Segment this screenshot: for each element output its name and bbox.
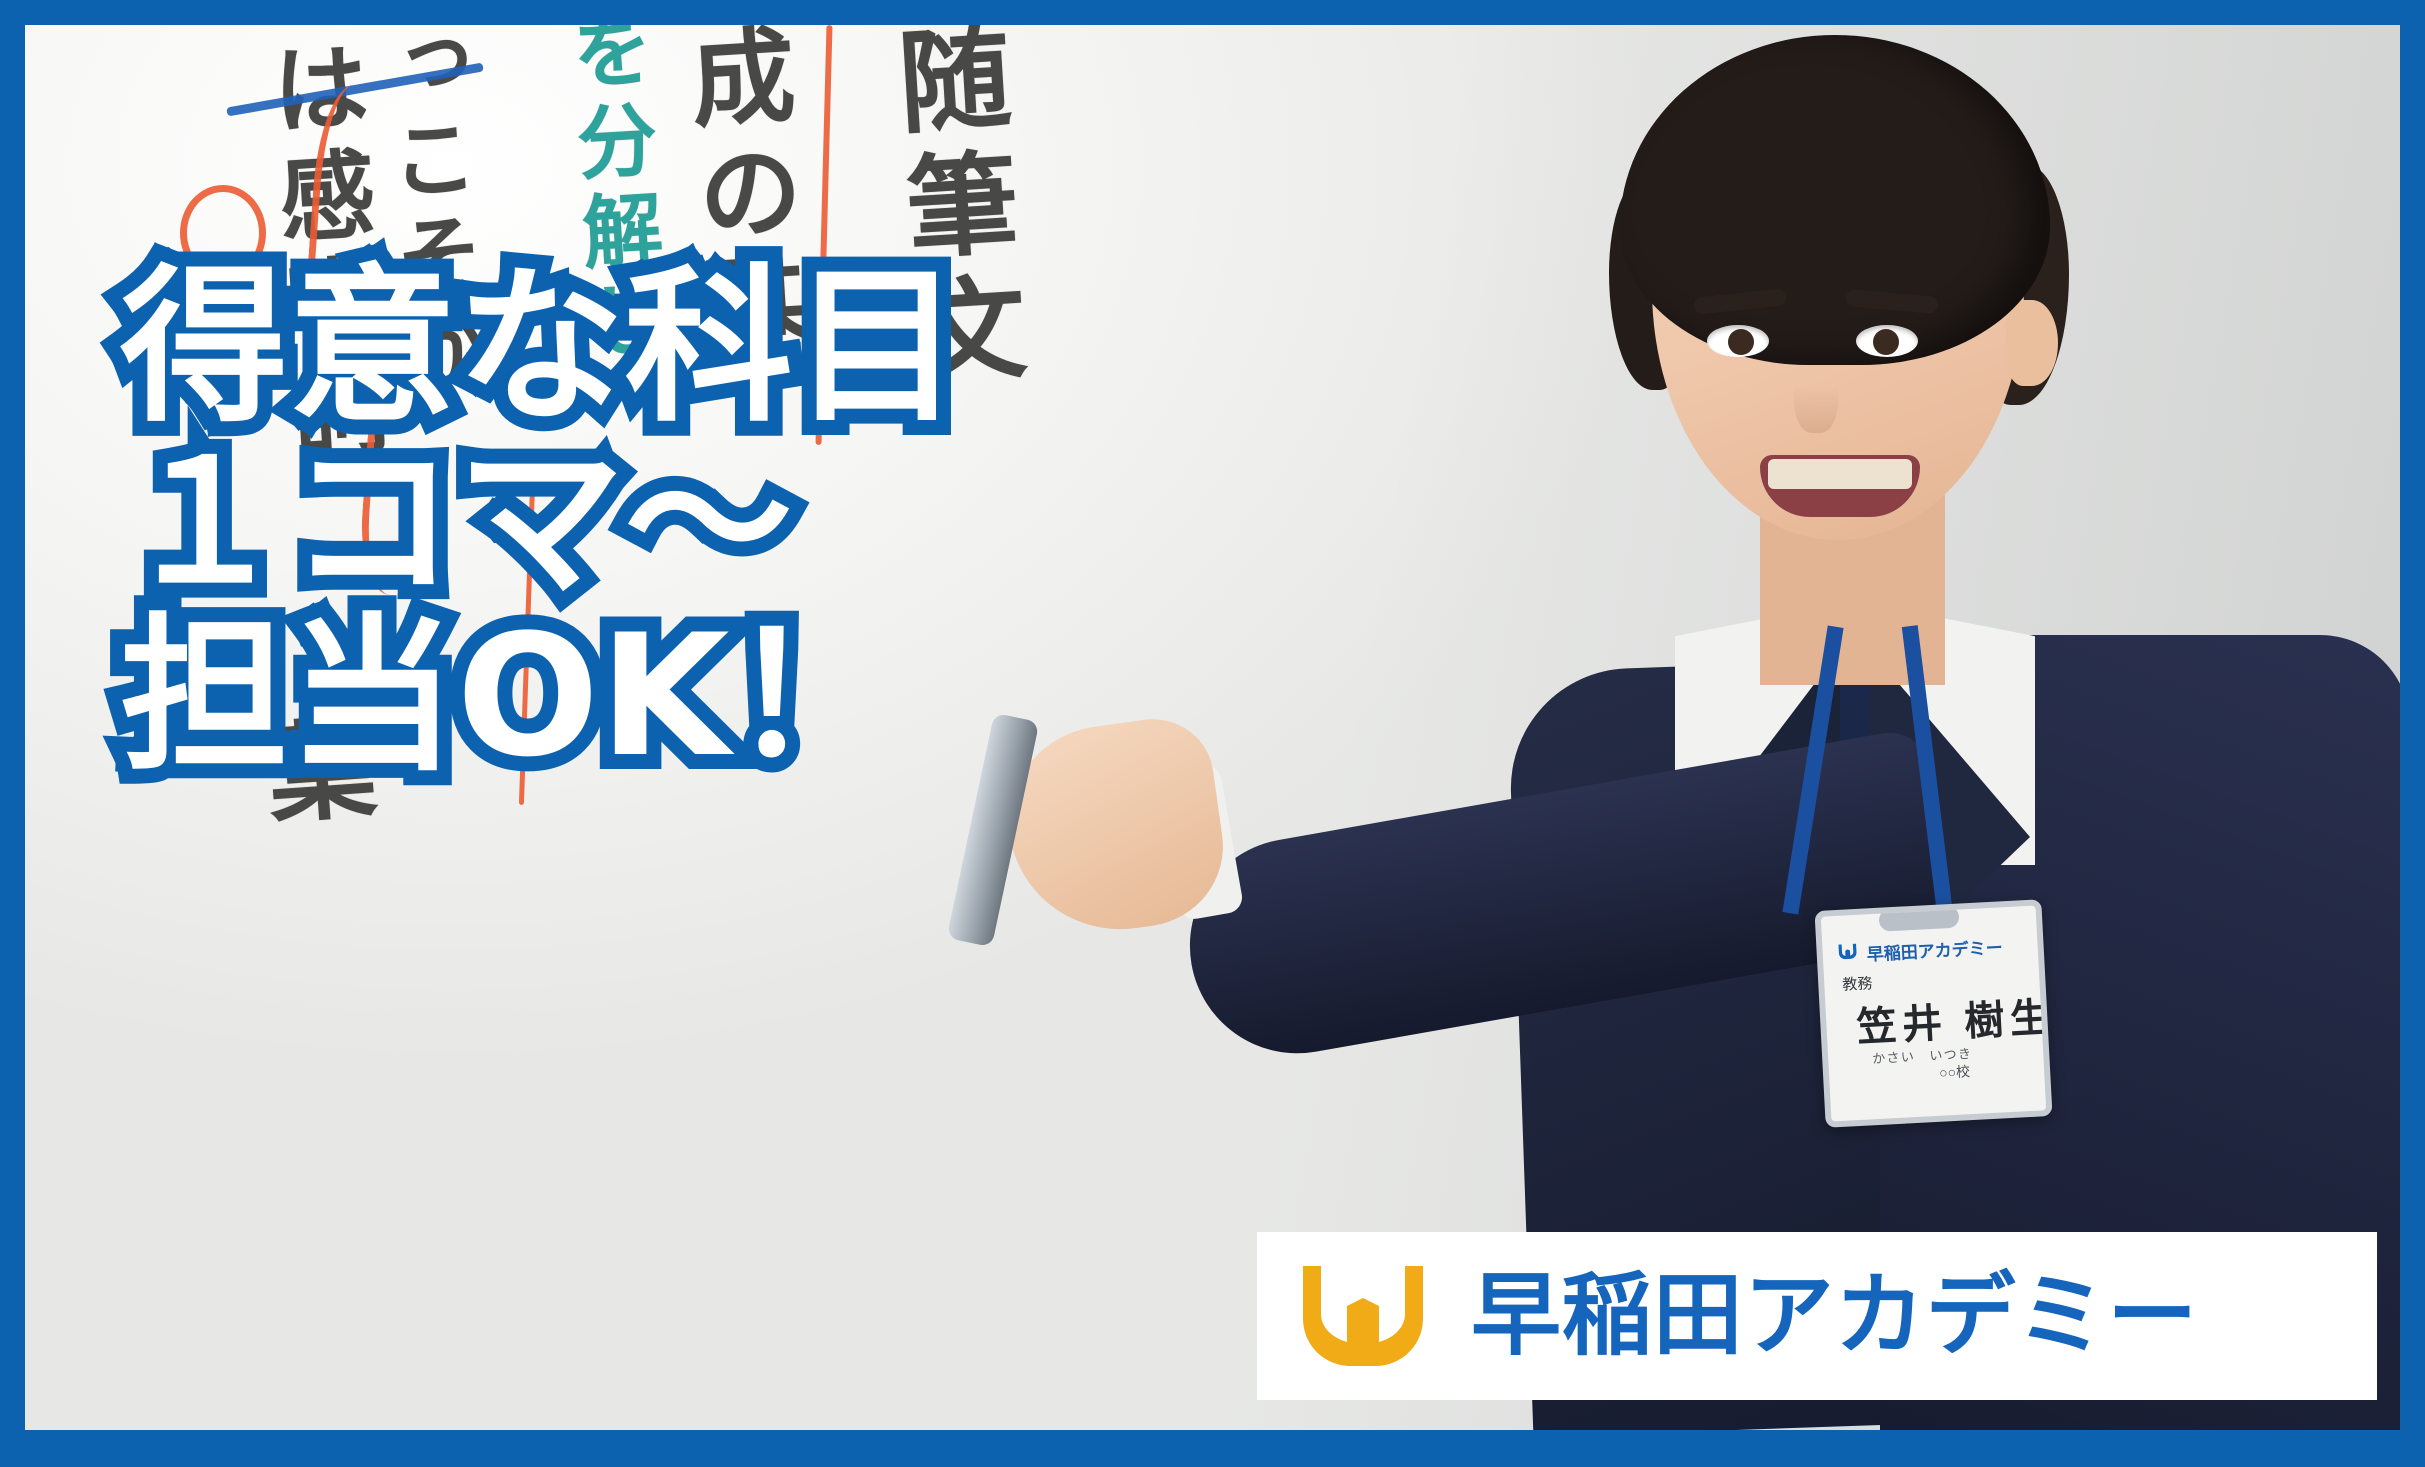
frame-border-right — [2400, 0, 2425, 1467]
badge-waseda-w-mark — [1836, 943, 1859, 960]
nose — [1794, 355, 1838, 433]
photo-area: っこそか は感嘆詞 を分解し、 成の基 随筆文 葉 — [25, 25, 2400, 1430]
headline-line-3: 担当OK！ — [120, 609, 961, 784]
badge-name-text: 笠井 樹生 — [1855, 985, 2053, 1053]
ear — [2006, 300, 2058, 386]
logo-plate: 早稲田アカデミー — [1257, 1232, 2377, 1400]
pupil-left — [1728, 329, 1754, 355]
headline: 得意な科目 １コマ〜 担当OK！ — [120, 260, 961, 784]
pupil-right — [1873, 329, 1899, 355]
badge-org-text: 早稲田アカデミー — [1866, 933, 2003, 965]
headline-line-2: １コマ〜 — [120, 435, 961, 610]
hair — [1620, 35, 2050, 365]
banner-root: っこそか は感嘆詞 を分解し、 成の基 随筆文 葉 — [0, 0, 2425, 1467]
teeth — [1768, 459, 1912, 489]
headline-line-1: 得意な科目 — [120, 260, 961, 435]
waseda-w-mark — [1299, 1264, 1427, 1368]
frame-border-left — [0, 0, 25, 1467]
logo-wordmark: 早稲田アカデミー — [1471, 1271, 2198, 1361]
badge-role-text: 教務 — [1842, 972, 1873, 995]
frame-border-bottom — [0, 1430, 2425, 1467]
mouth — [1760, 455, 1920, 517]
badge-clip — [1878, 906, 1959, 932]
badge-school-text: ○○校 — [1939, 1061, 1971, 1083]
id-badge: 早稲田アカデミー 教務 笠井 樹生 かさい いつき ○○校 — [1814, 899, 2052, 1128]
instructor-photo: 早稲田アカデミー 教務 笠井 樹生 かさい いつき ○○校 — [1220, 25, 2400, 1430]
frame-border-top — [0, 0, 2425, 25]
